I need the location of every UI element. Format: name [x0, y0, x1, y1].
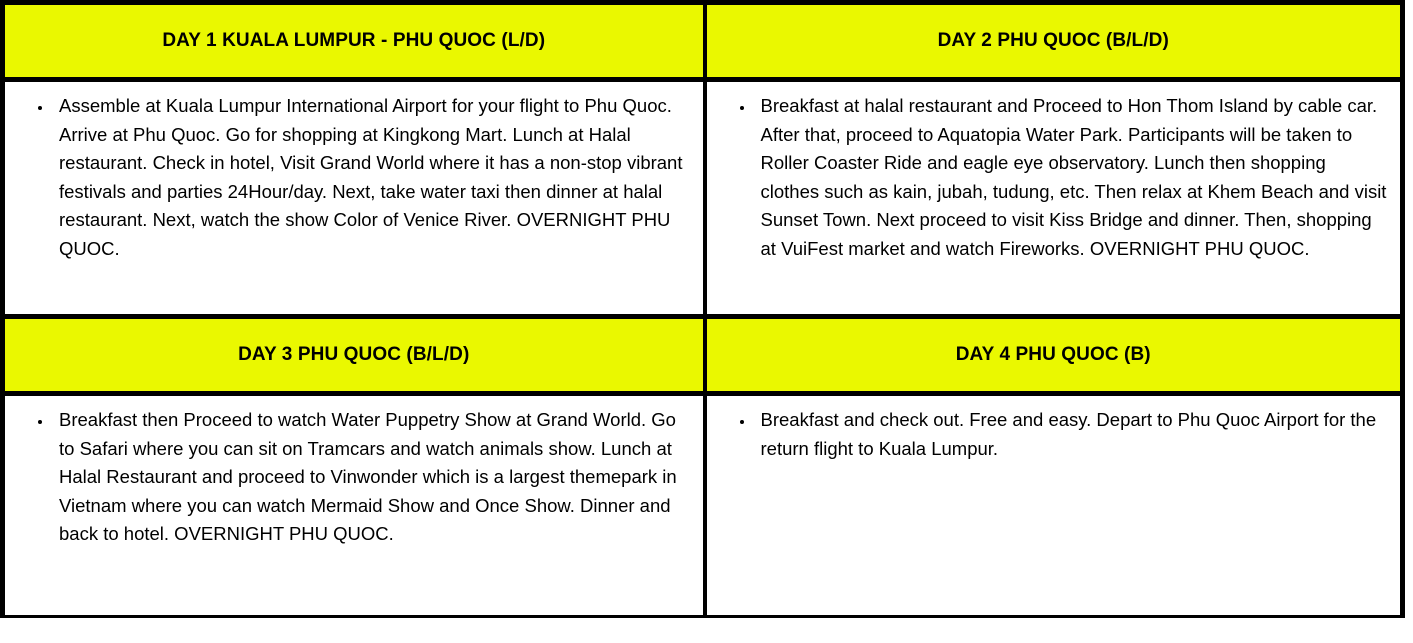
day3-title: DAY 3 PHU QUOC (B/L/D): [15, 344, 693, 366]
body-cell-day1: Assemble at Kuala Lumpur International A…: [0, 82, 703, 314]
header-cell-day4: DAY 4 PHU QUOC (B): [703, 314, 1406, 396]
body-cell-day3: Breakfast then Proceed to watch Water Pu…: [0, 396, 703, 618]
body-cell-day2: Breakfast at halal restaurant and Procee…: [703, 82, 1406, 314]
list-item: Breakfast at halal restaurant and Procee…: [755, 92, 1389, 263]
itinerary-table: DAY 1 KUALA LUMPUR - PHU QUOC (L/D) DAY …: [0, 0, 1405, 618]
day4-title: DAY 4 PHU QUOC (B): [717, 344, 1391, 366]
day4-bullet-list: Breakfast and check out. Free and easy. …: [717, 406, 1389, 463]
header-cell-day2: DAY 2 PHU QUOC (B/L/D): [703, 0, 1406, 82]
day2-title: DAY 2 PHU QUOC (B/L/D): [717, 30, 1391, 52]
day1-title: DAY 1 KUALA LUMPUR - PHU QUOC (L/D): [15, 30, 693, 52]
body-cell-day4: Breakfast and check out. Free and easy. …: [703, 396, 1406, 618]
list-item: Assemble at Kuala Lumpur International A…: [53, 92, 691, 263]
table-row-headers-day3-day4: DAY 3 PHU QUOC (B/L/D) DAY 4 PHU QUOC (B…: [0, 314, 1405, 396]
list-item: Breakfast and check out. Free and easy. …: [755, 406, 1389, 463]
day2-bullet-list: Breakfast at halal restaurant and Procee…: [717, 92, 1389, 263]
table-row-body-day3-day4: Breakfast then Proceed to watch Water Pu…: [0, 396, 1405, 618]
header-cell-day3: DAY 3 PHU QUOC (B/L/D): [0, 314, 703, 396]
table-row-body-day1-day2: Assemble at Kuala Lumpur International A…: [0, 82, 1405, 314]
table-row-headers-day1-day2: DAY 1 KUALA LUMPUR - PHU QUOC (L/D) DAY …: [0, 0, 1405, 82]
day1-bullet-list: Assemble at Kuala Lumpur International A…: [15, 92, 691, 263]
list-item: Breakfast then Proceed to watch Water Pu…: [53, 406, 691, 549]
day3-bullet-list: Breakfast then Proceed to watch Water Pu…: [15, 406, 691, 549]
header-cell-day1: DAY 1 KUALA LUMPUR - PHU QUOC (L/D): [0, 0, 703, 82]
